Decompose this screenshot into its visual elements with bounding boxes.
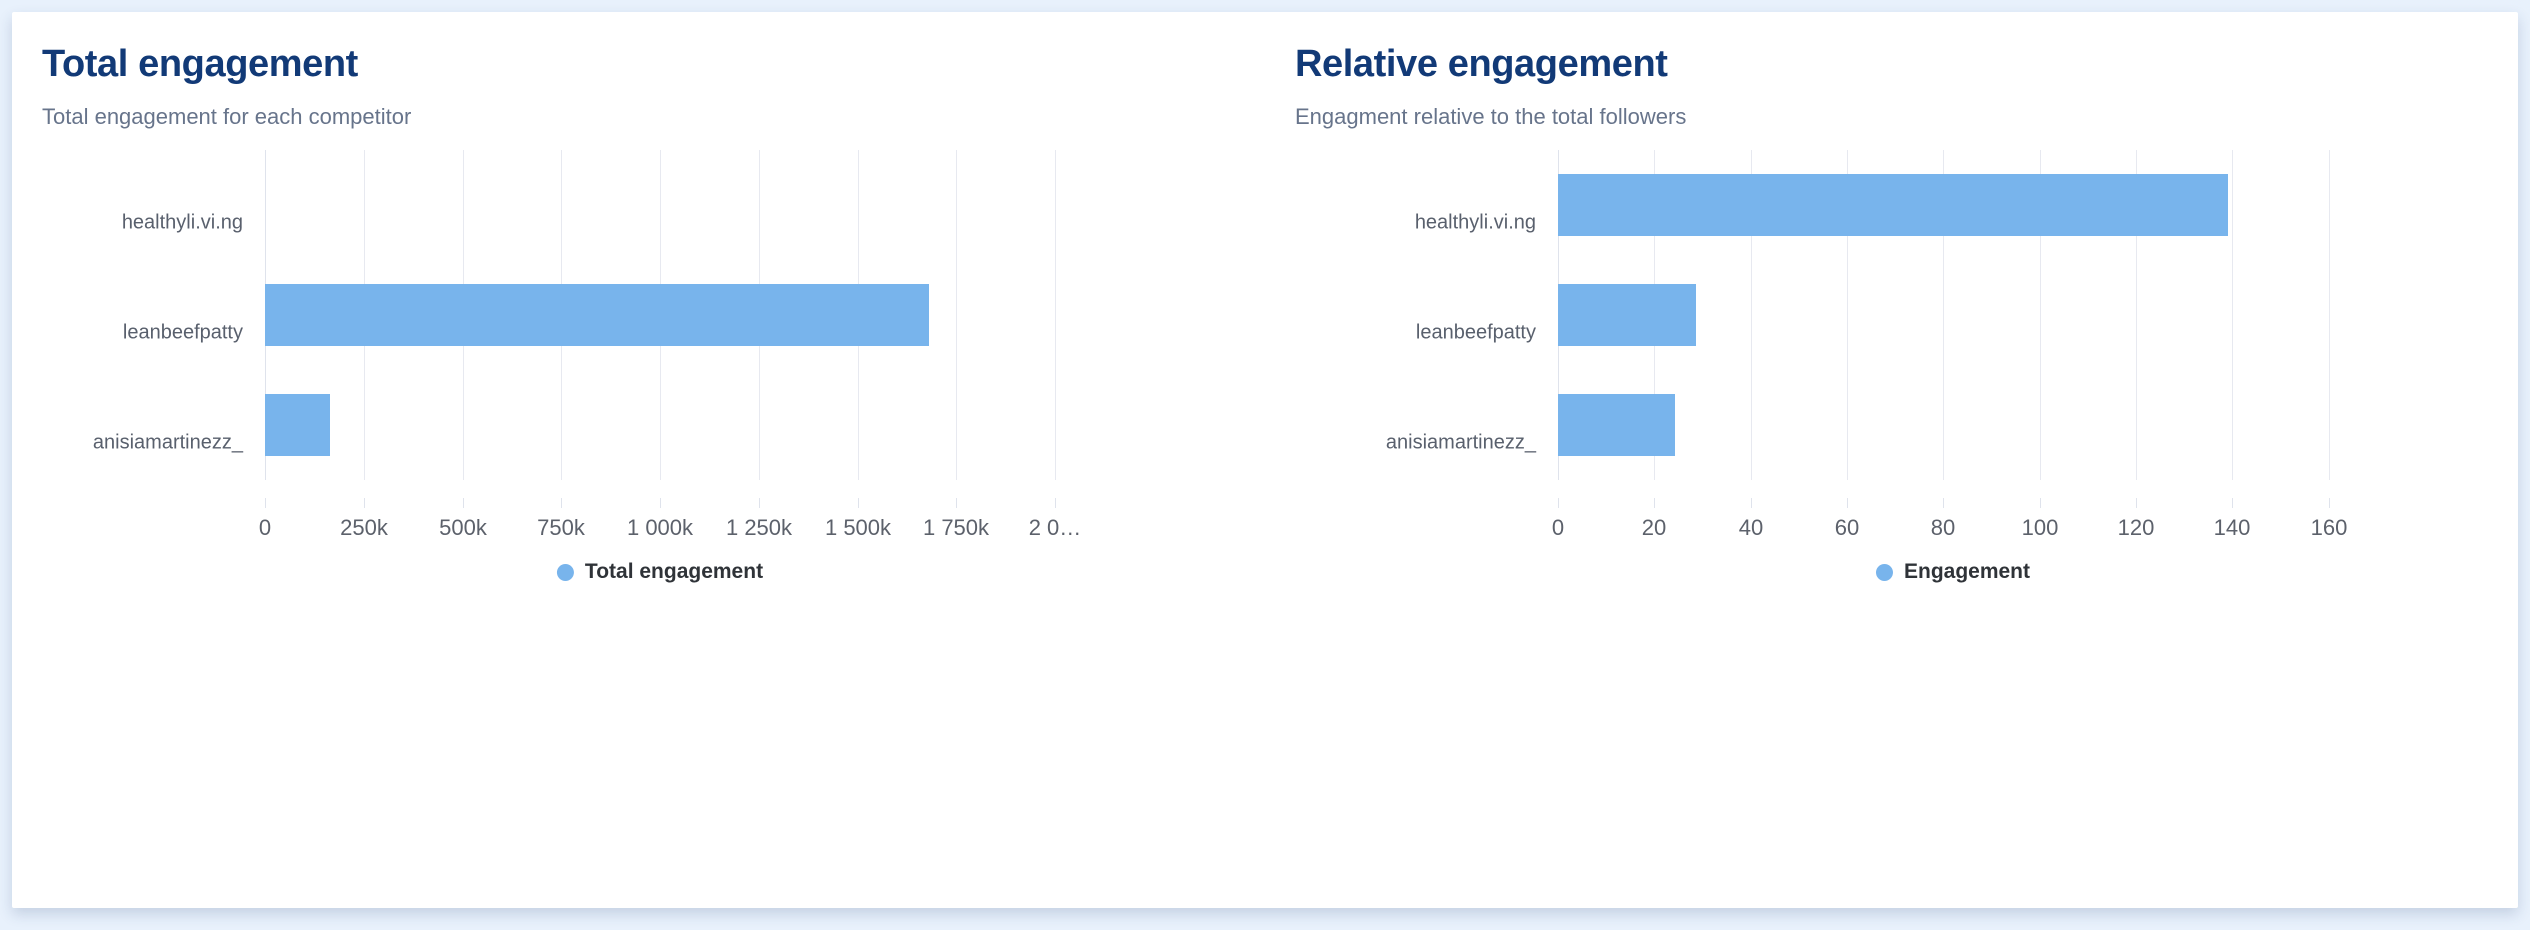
category-label: anisiamartinezz_ — [1265, 432, 1536, 455]
x-tick-label: 0 — [1552, 515, 1564, 541]
plot-area — [1558, 150, 2348, 480]
bar[interactable] — [1558, 394, 1675, 456]
x-tick-mark — [2136, 498, 2137, 508]
x-tick-label: 1 000k — [627, 515, 693, 541]
x-tick-label: 80 — [1931, 515, 1955, 541]
x-tick-label: 250k — [340, 515, 388, 541]
x-tick-label: 1 250k — [726, 515, 792, 541]
panel-relative-engagement: Relative engagement Engagment relative t… — [1265, 12, 2518, 908]
bar-row[interactable] — [1558, 174, 2348, 236]
legend-label: Total engagement — [585, 560, 763, 584]
x-tick-mark — [1055, 498, 1056, 508]
x-tick-mark — [956, 498, 957, 508]
dashboard-card: Total engagement Total engagement for ea… — [12, 12, 2518, 908]
x-tick-mark — [759, 498, 760, 508]
gridline — [1055, 150, 1056, 480]
category-label: anisiamartinezz_ — [12, 432, 243, 455]
x-tick-mark — [1943, 498, 1944, 508]
chart-relative-engagement: healthyli.vi.ngleanbeefpattyanisiamartin… — [1265, 132, 2518, 908]
category-label: leanbeefpatty — [12, 322, 243, 345]
x-tick-label: 60 — [1835, 515, 1859, 541]
x-tick-mark — [1847, 498, 1848, 508]
x-tick-mark — [1654, 498, 1655, 508]
x-tick-mark — [1751, 498, 1752, 508]
x-tick-mark — [2232, 498, 2233, 508]
chart-total-engagement: healthyli.vi.ngleanbeefpattyanisiamartin… — [12, 132, 1265, 908]
panels-container: Total engagement Total engagement for ea… — [12, 12, 2518, 908]
panel-header-relative-engagement: Relative engagement Engagment relative t… — [1265, 12, 2518, 130]
legend-label: Engagement — [1904, 560, 2030, 584]
bar-series — [1558, 150, 2348, 480]
x-tick-label: 2 0… — [1029, 515, 1082, 541]
panel-subtitle: Engagment relative to the total follower… — [1295, 104, 2518, 130]
x-tick-label: 120 — [2118, 515, 2155, 541]
category-label: healthyli.vi.ng — [12, 212, 243, 235]
x-tick-mark — [364, 498, 365, 508]
x-tick-mark — [660, 498, 661, 508]
x-tick-mark — [858, 498, 859, 508]
x-tick-label: 160 — [2311, 515, 2348, 541]
legend-dot-icon — [1876, 564, 1893, 581]
x-tick-label: 1 500k — [825, 515, 891, 541]
x-tick-label: 750k — [537, 515, 585, 541]
x-tick-label: 140 — [2214, 515, 2251, 541]
x-tick-mark — [1558, 498, 1559, 508]
x-tick-label: 20 — [1642, 515, 1666, 541]
x-tick-label: 40 — [1739, 515, 1763, 541]
bar-row[interactable] — [265, 394, 1055, 456]
legend-dot-icon — [557, 564, 574, 581]
chart-legend[interactable]: Total engagement — [557, 560, 763, 584]
category-label: healthyli.vi.ng — [1265, 212, 1536, 235]
plot-area — [265, 150, 1055, 480]
panel-header-total-engagement: Total engagement Total engagement for ea… — [12, 12, 1265, 130]
category-label: leanbeefpatty — [1265, 322, 1536, 345]
x-tick-label: 0 — [259, 515, 271, 541]
bar[interactable] — [265, 284, 929, 346]
bar-row[interactable] — [265, 174, 1055, 236]
page-title: Relative engagement — [1295, 44, 2518, 86]
x-tick-mark — [265, 498, 266, 508]
x-tick-mark — [2040, 498, 2041, 508]
panel-total-engagement: Total engagement Total engagement for ea… — [12, 12, 1265, 908]
x-tick-label: 1 750k — [923, 515, 989, 541]
x-tick-mark — [561, 498, 562, 508]
panel-subtitle: Total engagement for each competitor — [42, 104, 1265, 130]
x-tick-mark — [2329, 498, 2330, 508]
bar-row[interactable] — [265, 284, 1055, 346]
x-tick-label: 100 — [2022, 515, 2059, 541]
bar[interactable] — [1558, 284, 1696, 346]
bar-row[interactable] — [1558, 284, 2348, 346]
bar-series — [265, 150, 1055, 480]
x-tick-label: 500k — [439, 515, 487, 541]
x-tick-mark — [463, 498, 464, 508]
bar-row[interactable] — [1558, 394, 2348, 456]
page-title: Total engagement — [42, 44, 1265, 86]
bar[interactable] — [265, 394, 330, 456]
chart-legend[interactable]: Engagement — [1876, 560, 2030, 584]
bar[interactable] — [1558, 174, 2228, 236]
